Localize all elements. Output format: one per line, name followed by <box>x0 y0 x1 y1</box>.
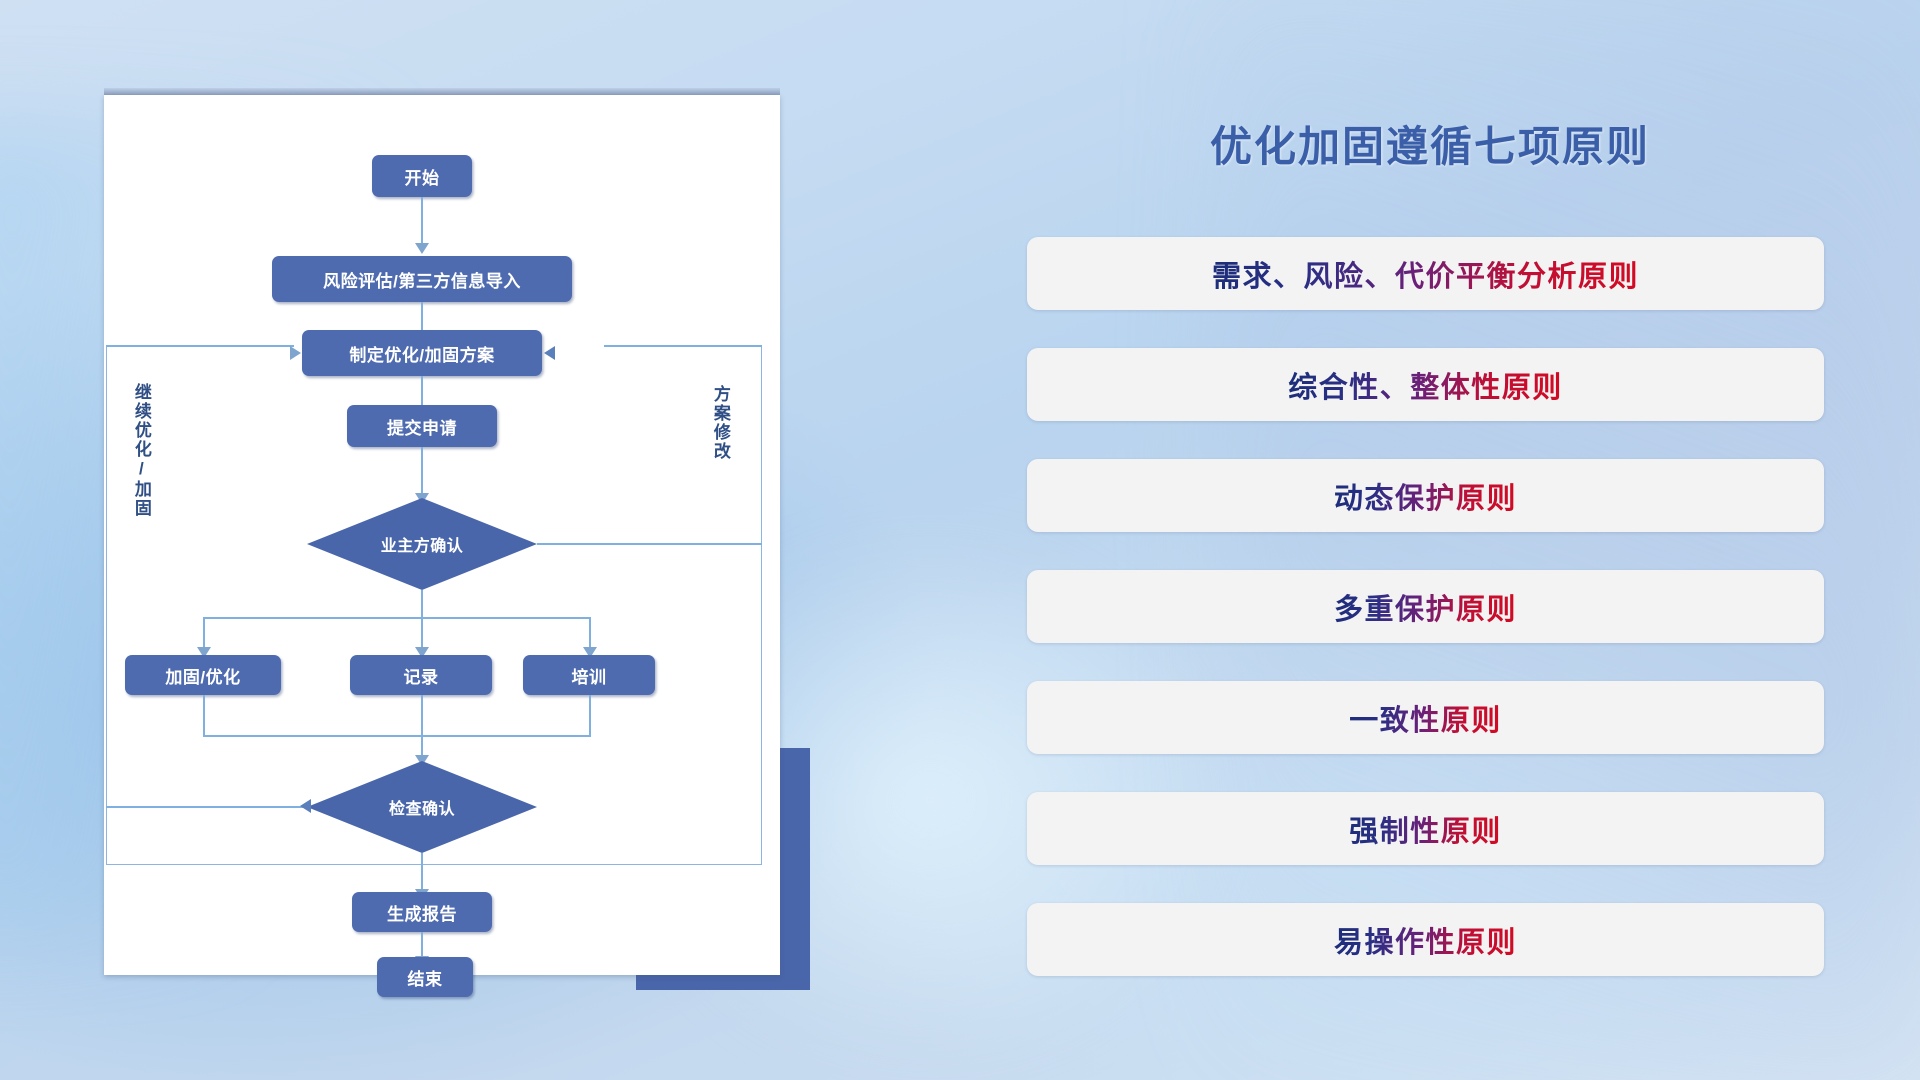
node-generate-report[interactable]: 生成报告 <box>352 892 492 932</box>
node-record-label: 记录 <box>404 663 439 688</box>
principle-item-6[interactable]: 强制性原则 <box>1027 792 1824 865</box>
node-risk-assessment-label: 风险评估/第三方信息导入 <box>323 267 521 292</box>
branch-bus-horizontal <box>203 617 590 619</box>
connector-submit-to-owner <box>421 447 423 499</box>
node-reinforce-optimize[interactable]: 加固/优化 <box>125 655 281 695</box>
principle-item-1[interactable]: 需求、风险、代价平衡分析原则 <box>1027 237 1824 310</box>
principle-label: 综合性、整体性原则 <box>1288 364 1563 406</box>
connector-check-to-continue-loop <box>106 806 309 808</box>
principle-item-4[interactable]: 多重保护原则 <box>1027 570 1824 643</box>
principle-item-3[interactable]: 动态保护原则 <box>1027 459 1824 532</box>
node-record[interactable]: 记录 <box>350 655 492 695</box>
node-owner-confirm-label: 业主方确认 <box>381 532 464 556</box>
merge-bus-horizontal <box>203 735 590 737</box>
connector-start-to-risk <box>421 197 423 247</box>
node-reinforce-optimize-label: 加固/优化 <box>165 663 240 688</box>
node-risk-assessment[interactable]: 风险评估/第三方信息导入 <box>272 256 572 302</box>
connector-owner-down <box>421 590 423 653</box>
arrowhead-revision-into-plan-icon <box>544 346 555 360</box>
node-check-confirm[interactable]: 检查确认 <box>307 761 537 853</box>
panel-title: 优化加固遵循七项原则 <box>1030 113 1830 174</box>
principle-label: 动态保护原则 <box>1334 475 1517 517</box>
principle-item-7[interactable]: 易操作性原则 <box>1027 903 1824 976</box>
node-start-label: 开始 <box>405 164 440 189</box>
flowchart-card: 开始 风险评估/第三方信息导入 制定优化/加固方案 提交申请 业主方确认 <box>104 95 780 975</box>
node-training-label: 培训 <box>572 663 607 688</box>
principle-label: 多重保护原则 <box>1334 586 1517 628</box>
principle-label: 易操作性原则 <box>1334 919 1517 961</box>
arrowhead-check-left-icon <box>300 799 311 813</box>
principle-label: 一致性原则 <box>1349 697 1502 739</box>
arrowhead-loop-into-plan-icon <box>290 346 301 360</box>
principle-label: 强制性原则 <box>1349 808 1502 850</box>
label-continue-optimize: 继续优化/加固 <box>132 383 150 518</box>
loop-frame-top-left-segment <box>106 345 294 347</box>
node-make-plan[interactable]: 制定优化/加固方案 <box>302 330 542 376</box>
connector-merge-to-check <box>421 695 423 761</box>
loop-frame-top-right-segment <box>604 345 762 347</box>
slide-canvas: 开始 风险评估/第三方信息导入 制定优化/加固方案 提交申请 业主方确认 <box>0 0 1920 1080</box>
node-start[interactable]: 开始 <box>372 155 472 197</box>
merge-left-rise <box>203 695 205 737</box>
principle-item-2[interactable]: 综合性、整体性原则 <box>1027 348 1824 421</box>
node-owner-confirm[interactable]: 业主方确认 <box>307 498 537 590</box>
node-submit-application[interactable]: 提交申请 <box>347 405 497 447</box>
node-check-confirm-label: 检查确认 <box>389 795 455 819</box>
node-end-label: 结束 <box>408 965 443 990</box>
node-submit-application-label: 提交申请 <box>387 414 457 439</box>
merge-right-rise <box>589 695 591 737</box>
node-training[interactable]: 培训 <box>523 655 655 695</box>
node-generate-report-label: 生成报告 <box>387 900 457 925</box>
principle-item-5[interactable]: 一致性原则 <box>1027 681 1824 754</box>
label-plan-revision: 方案修改 <box>711 385 729 461</box>
connector-owner-to-revision <box>537 543 762 545</box>
node-make-plan-label: 制定优化/加固方案 <box>349 341 494 366</box>
principle-label: 需求、风险、代价平衡分析原则 <box>1212 253 1639 295</box>
arrowhead-to-risk-icon <box>415 243 429 254</box>
node-end[interactable]: 结束 <box>377 957 473 997</box>
